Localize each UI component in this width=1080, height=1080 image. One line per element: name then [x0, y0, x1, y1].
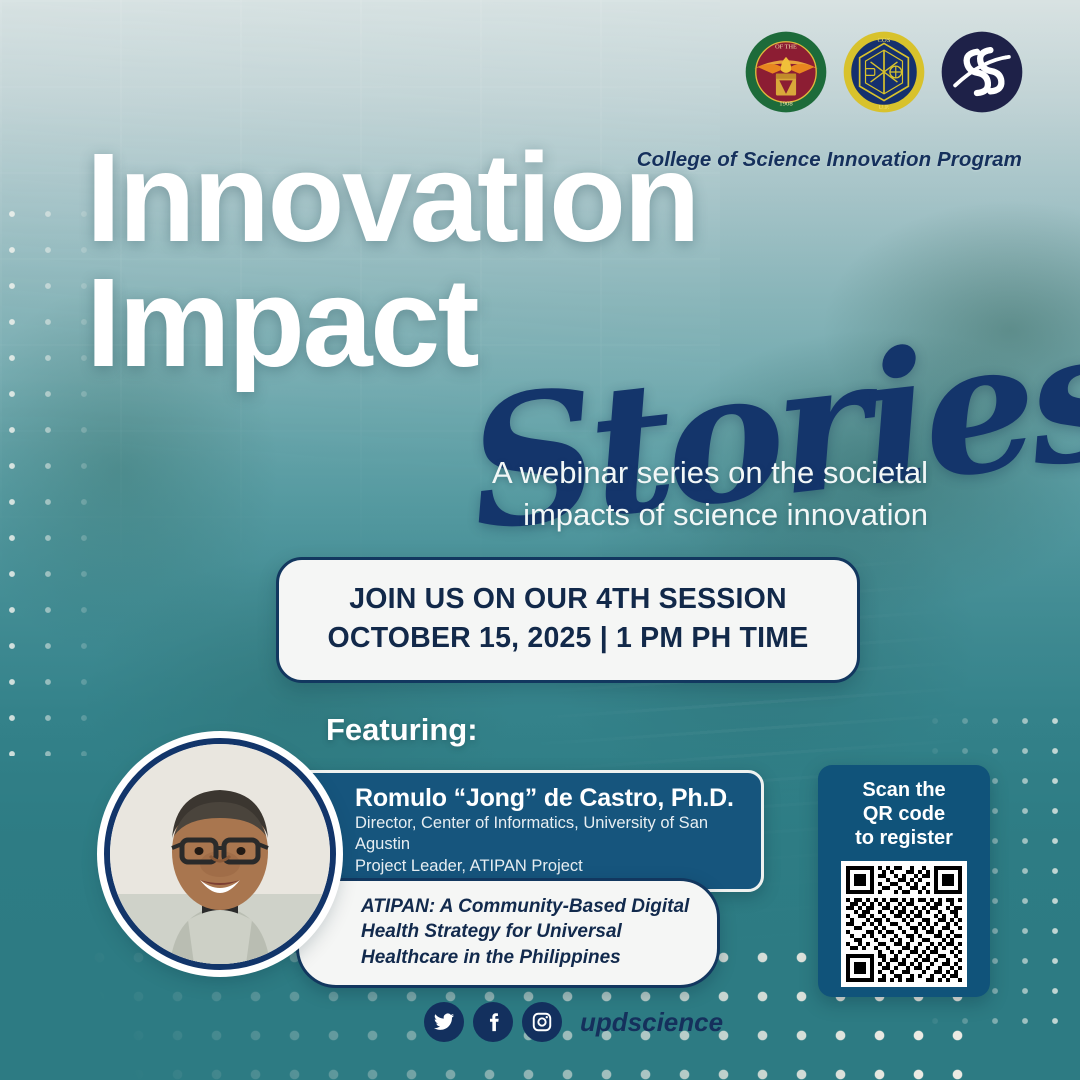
qr-code-icon	[846, 866, 962, 982]
session-line-1: JOIN US ON OUR 4TH SESSION	[303, 580, 833, 619]
facebook-icon	[482, 1011, 504, 1033]
social-bar: updscience	[424, 1002, 723, 1042]
svg-text:COS: COS	[877, 37, 890, 44]
qr-code-image[interactable]	[841, 861, 967, 987]
facebook-link[interactable]	[473, 1002, 513, 1042]
svg-text:1908: 1908	[779, 101, 793, 108]
twitter-icon	[433, 1011, 455, 1033]
qr-panel[interactable]: Scan the QR code to register	[818, 765, 990, 997]
speaker-avatar	[104, 738, 336, 970]
instagram-icon	[531, 1011, 553, 1033]
qr-label-line-3: to register	[818, 826, 990, 850]
speaker-portrait-icon	[110, 744, 330, 964]
twitter-link[interactable]	[424, 1002, 464, 1042]
svg-text:OF THE: OF THE	[775, 43, 797, 50]
session-info-box: JOIN US ON OUR 4TH SESSION OCTOBER 15, 2…	[276, 557, 860, 683]
talk-title-card: ATIPAN: A Community-Based Digital Health…	[296, 878, 720, 988]
speaker-role-2: Project Leader, ATIPAN Project	[355, 856, 743, 877]
title-block: Innovation Impact Stories A webinar seri…	[86, 136, 1006, 385]
poster-root: OF THE 1908 COS U.P. Co	[0, 0, 1080, 1080]
svg-text:U.P.: U.P.	[878, 104, 890, 111]
title-line-2-text: Impact	[86, 252, 477, 393]
subtitle: A webinar series on the societal impacts…	[86, 452, 1006, 536]
featuring-label: Featuring:	[326, 712, 478, 748]
talk-title: ATIPAN: A Community-Based Digital Health…	[361, 894, 693, 970]
speaker-name: Romulo “Jong” de Castro, Ph.D.	[355, 784, 743, 813]
subtitle-line-1: A webinar series on the societal	[86, 452, 928, 494]
qr-label-line-1: Scan the	[818, 778, 990, 802]
up-seal-icon: OF THE 1908	[744, 30, 828, 114]
title-line-2: Impact Stories	[86, 261, 1006, 386]
qr-label-line-2: QR code	[818, 802, 990, 826]
logo-row: OF THE 1908 COS U.P.	[744, 30, 1024, 114]
title-line-1: Innovation	[86, 136, 1006, 261]
session-line-2: OCTOBER 15, 2025 | 1 PM PH TIME	[303, 619, 833, 658]
subtitle-line-2: impacts of science innovation	[86, 494, 928, 536]
csip-logo-icon	[940, 30, 1024, 114]
social-handle: updscience	[580, 1007, 723, 1038]
instagram-link[interactable]	[522, 1002, 562, 1042]
speaker-role-1: Director, Center of Informatics, Univers…	[355, 813, 743, 856]
college-of-science-seal-icon: COS U.P.	[842, 30, 926, 114]
